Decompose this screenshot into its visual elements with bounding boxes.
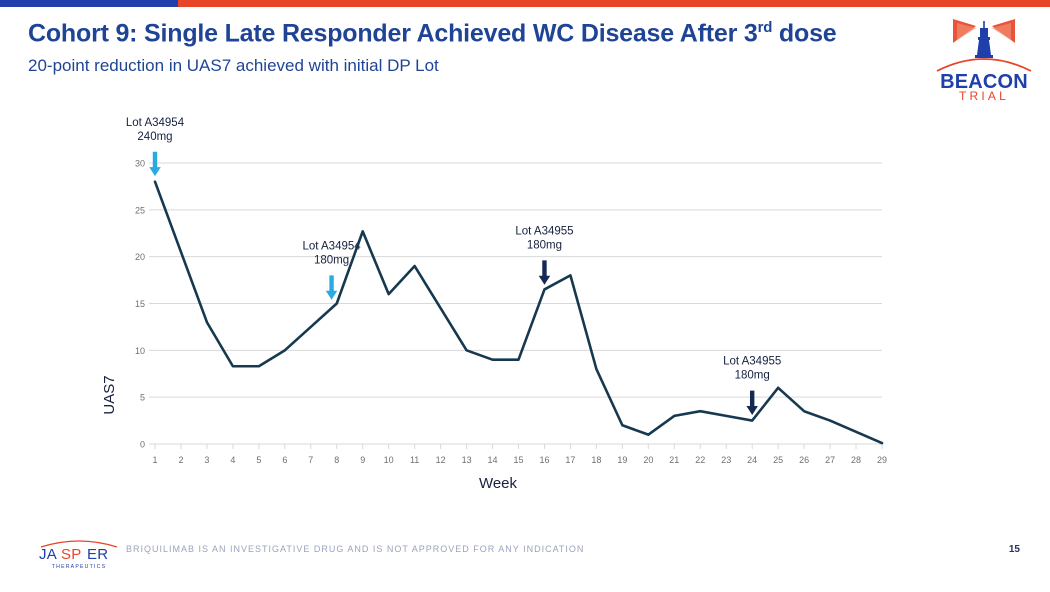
- y-tick-label: 10: [135, 346, 145, 356]
- x-tick-label: 25: [773, 455, 783, 465]
- data-series-uas7: [155, 182, 882, 443]
- chart-annotations: Lot A34954240mgLot A34954180mgLot A34955…: [126, 117, 781, 415]
- page-title-ordinal-suffix: rd: [758, 19, 773, 36]
- x-tick-label: 9: [360, 455, 365, 465]
- jasper-tagline: THERAPEUTICS: [52, 564, 106, 570]
- page-title-main: Cohort 9: Single Late Responder Achieved…: [28, 19, 758, 47]
- x-tick-label: 23: [721, 455, 731, 465]
- x-tick-label: 15: [513, 455, 523, 465]
- x-tick-label: 12: [436, 455, 446, 465]
- x-tick-label: 27: [825, 455, 835, 465]
- annotation-dose-label: 180mg: [314, 254, 349, 266]
- annotation-dose-label: 240mg: [137, 131, 172, 143]
- series-line: [155, 182, 882, 443]
- dose-arrow-icon: [326, 275, 338, 299]
- x-tick-label: 13: [462, 455, 472, 465]
- y-axis-label: UAS7: [101, 375, 118, 414]
- annotation-dose-label: 180mg: [527, 239, 562, 251]
- annotation-lot-label: Lot A34955: [723, 356, 781, 368]
- x-tick-label: 24: [747, 455, 757, 465]
- y-tick-label: 5: [140, 393, 145, 403]
- y-tick-label: 15: [135, 299, 145, 309]
- page-number: 15: [1009, 544, 1020, 555]
- x-tick-label: 29: [877, 455, 887, 465]
- disclaimer-text: BRIQUILIMAB IS AN INVESTIGATIVE DRUG AND…: [126, 544, 584, 554]
- top-accent-bar: [0, 0, 1050, 7]
- beacon-trial-wordmark: TRIAL: [959, 89, 1009, 102]
- x-tick-label: 8: [334, 455, 339, 465]
- x-tick-label: 3: [204, 455, 209, 465]
- x-tick-label: 1: [152, 455, 157, 465]
- dose-arrow-icon: [746, 391, 758, 415]
- annotation-lot-label: Lot A34954: [126, 117, 185, 129]
- jasper-wordmark-c: ER: [87, 546, 108, 563]
- x-tick-label: 18: [591, 455, 601, 465]
- x-tick-label: 10: [384, 455, 394, 465]
- x-tick-label: 28: [851, 455, 861, 465]
- lighthouse-icon: [975, 21, 993, 58]
- x-tick-label: 2: [178, 455, 183, 465]
- x-tick-label: 6: [282, 455, 287, 465]
- y-tick-label: 20: [135, 252, 145, 262]
- annotation-lot-label: Lot A34955: [515, 225, 573, 237]
- x-tick-label: 17: [565, 455, 575, 465]
- x-tick-label: 20: [643, 455, 653, 465]
- beacon-arc: [937, 59, 1031, 71]
- accent-bar-blue-segment: [0, 0, 178, 7]
- page-subtitle: 20-point reduction in UAS7 achieved with…: [28, 56, 928, 76]
- dose-arrow-icon: [539, 260, 551, 284]
- slide-footer: JA SP ER THERAPEUTICS BRIQUILIMAB IS AN …: [0, 530, 1050, 592]
- y-tick-label: 30: [135, 159, 145, 169]
- x-tick-label: 22: [695, 455, 705, 465]
- jasper-wordmark-b: SP: [61, 546, 82, 563]
- x-tick-label: 5: [256, 455, 261, 465]
- x-tick-label: 26: [799, 455, 809, 465]
- slide-header: Cohort 9: Single Late Responder Achieved…: [28, 20, 928, 76]
- annotation-lot-label: Lot A34954: [302, 240, 361, 252]
- page-title-tail: dose: [772, 19, 836, 47]
- y-axis-ticks: 051015202530: [135, 159, 145, 450]
- beacon-trial-logo: BEACON TRIAL: [932, 14, 1036, 102]
- x-axis-ticks: 1234567891011121314151617181920212223242…: [152, 444, 887, 465]
- y-tick-label: 0: [140, 440, 145, 450]
- x-tick-label: 14: [488, 455, 498, 465]
- chart-canvas: 051015202530 123456789101112131415161718…: [0, 110, 1050, 510]
- x-tick-label: 16: [539, 455, 549, 465]
- x-tick-label: 21: [669, 455, 679, 465]
- jasper-therapeutics-logo: JA SP ER THERAPEUTICS: [38, 536, 120, 570]
- page-title: Cohort 9: Single Late Responder Achieved…: [28, 20, 928, 48]
- annotation-dose-label: 180mg: [735, 370, 770, 382]
- x-tick-label: 7: [308, 455, 313, 465]
- x-tick-label: 4: [230, 455, 235, 465]
- x-axis-label: Week: [479, 475, 518, 492]
- x-tick-label: 11: [410, 455, 419, 465]
- x-tick-label: 19: [617, 455, 627, 465]
- dose-arrow-icon: [149, 152, 161, 176]
- y-tick-label: 25: [135, 205, 145, 215]
- gridlines: [149, 163, 882, 444]
- jasper-wordmark-a: JA: [39, 546, 57, 563]
- uas7-line-chart: 051015202530 123456789101112131415161718…: [0, 110, 1050, 510]
- accent-bar-red-segment: [178, 0, 1050, 7]
